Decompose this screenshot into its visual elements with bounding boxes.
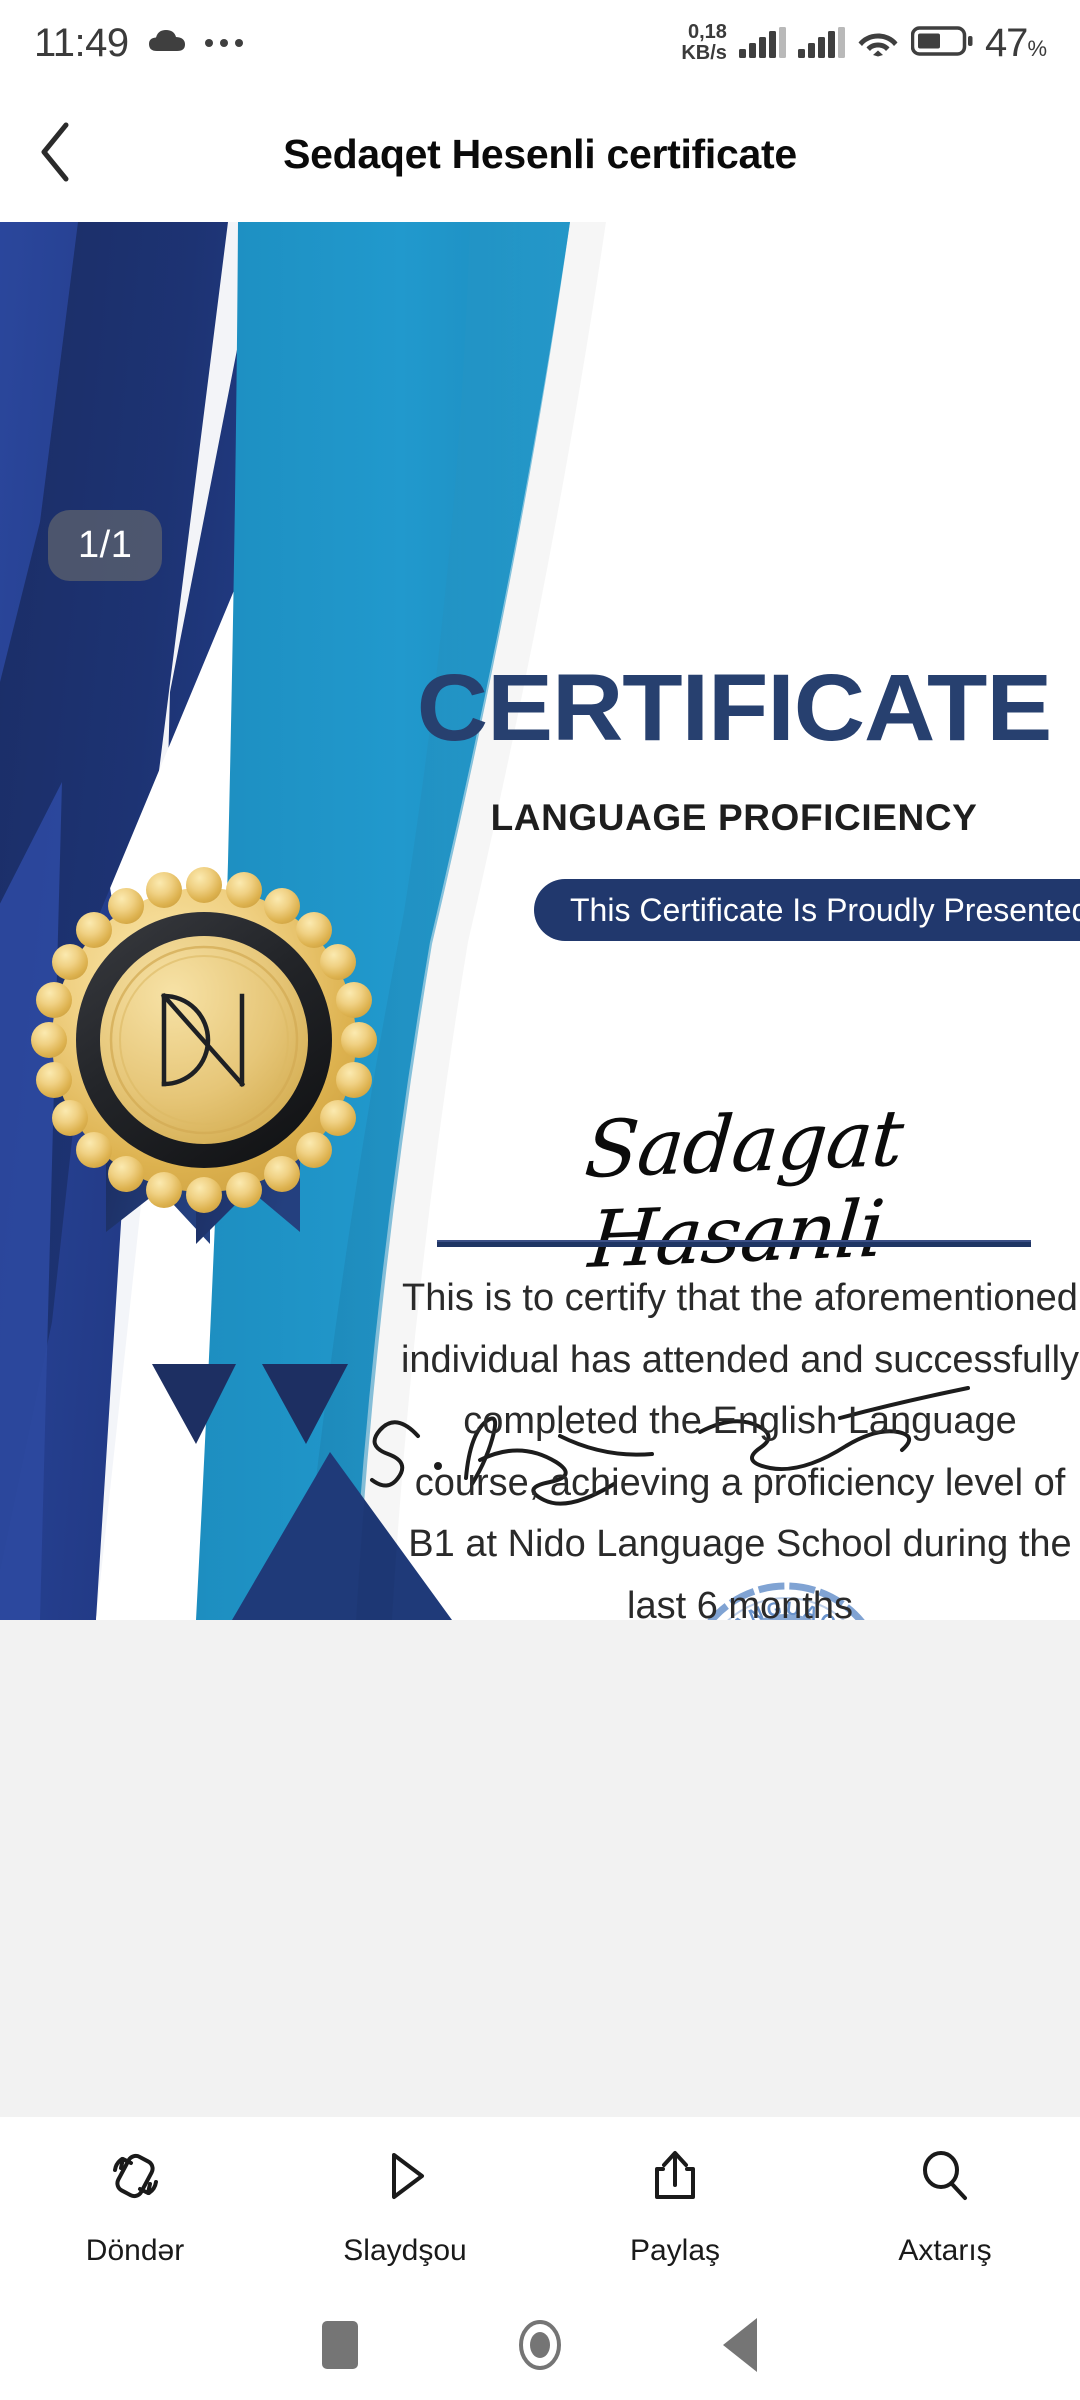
wifi-icon	[857, 25, 899, 62]
home-circle-icon[interactable]	[440, 2318, 640, 2372]
certificate-image-viewer[interactable]: NIDO LANGUAGE SCHOOL EST. 2018	[0, 222, 1080, 1620]
title-bar: Sedaqet Hesenli certificate	[0, 86, 1080, 222]
rotate-label: Döndər	[86, 2234, 184, 2268]
gold-seal	[31, 867, 377, 1213]
slideshow-label: Slaydşou	[343, 2234, 466, 2268]
certificate-subheading: LANGUAGE PROFICIENCY	[404, 797, 1064, 839]
certificate-body-text: This is to certify that the aforemention…	[400, 1268, 1080, 1620]
network-speed-unit: KB/s	[681, 43, 727, 64]
rotate-icon	[104, 2145, 166, 2212]
battery-percent: 47%	[985, 21, 1046, 66]
viewer-background-area	[0, 1620, 1080, 2117]
status-bar-right: 0,18 KB/s	[681, 21, 1046, 66]
back-chevron-icon	[36, 121, 76, 188]
android-nav-bar	[0, 2290, 1080, 2400]
recents-square-icon[interactable]	[240, 2321, 440, 2369]
presented-to-banner: This Certificate Is Proudly Presented To	[534, 879, 1080, 941]
share-label: Paylaş	[630, 2234, 720, 2268]
recipient-underline	[437, 1240, 1031, 1247]
search-icon	[914, 2145, 976, 2212]
recipient-name: Sadagat Hasanli	[433, 1088, 1048, 1292]
search-button[interactable]: Axtarış	[855, 2145, 1035, 2268]
status-bar: 11:49 0,18 KB/s	[0, 0, 1080, 86]
back-triangle-icon[interactable]	[640, 2318, 840, 2372]
status-clock: 11:49	[34, 21, 129, 66]
network-speed-value: 0,18	[681, 22, 727, 43]
battery-icon	[911, 25, 973, 62]
search-label: Axtarış	[898, 2234, 991, 2268]
share-button[interactable]: Paylaş	[585, 2145, 765, 2268]
signal-bars-icon-2	[798, 28, 845, 58]
status-bar-left: 11:49	[34, 21, 243, 66]
network-speed: 0,18 KB/s	[681, 22, 727, 64]
signal-bars-icon	[739, 28, 786, 58]
bottom-toolbar: Döndər Slaydşou Paylaş	[0, 2117, 1080, 2290]
rotate-button[interactable]: Döndər	[45, 2145, 225, 2268]
page-indicator-badge: 1/1	[48, 510, 162, 581]
slideshow-button[interactable]: Slaydşou	[315, 2145, 495, 2268]
share-icon	[644, 2145, 706, 2212]
phone-screen: 11:49 0,18 KB/s	[0, 0, 1080, 2400]
more-dots-icon	[205, 39, 243, 47]
page-title: Sedaqet Hesenli certificate	[112, 131, 1080, 178]
back-button[interactable]	[0, 86, 112, 222]
play-slideshow-icon	[374, 2145, 436, 2212]
cloud-icon	[147, 27, 187, 60]
certificate-heading: CERTIFICATE	[391, 654, 1077, 763]
